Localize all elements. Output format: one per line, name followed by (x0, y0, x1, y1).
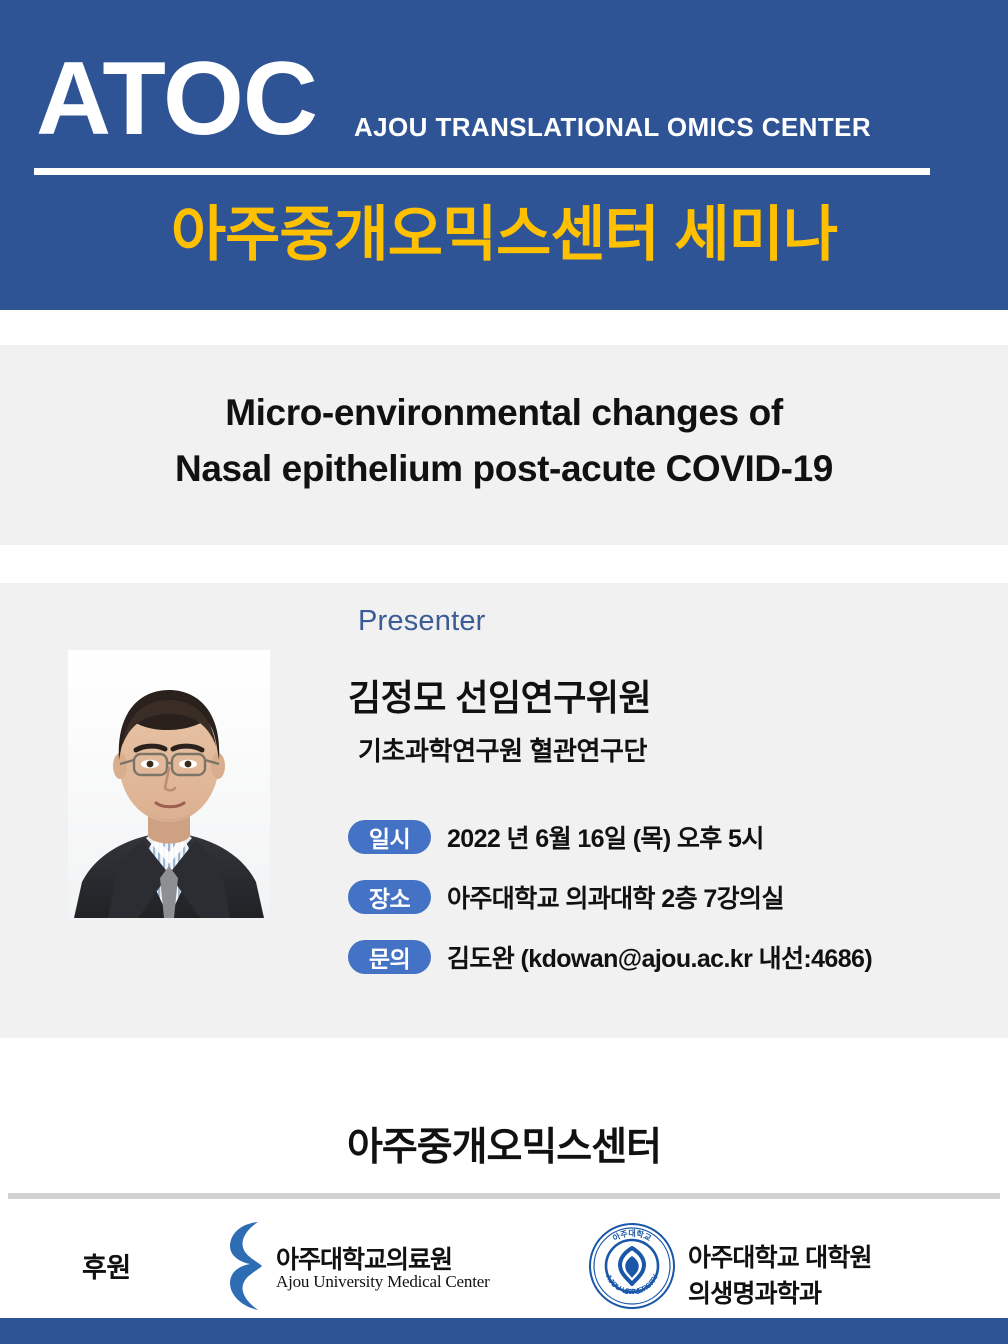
brand-full-name: AJOU TRANSLATIONAL OMICS CENTER (354, 112, 871, 142)
event-details-list: 일시 2022 년 6월 16일 (목) 오후 5시 장소 아주대학교 의과대학… (348, 814, 968, 994)
presenter-label: Presenter (358, 605, 486, 638)
bottom-band (0, 1318, 1008, 1344)
talk-title: Micro-environmental changes of Nasal epi… (0, 385, 1008, 497)
sponsor-ajou-graduate-school: 아주대학교 AJOU UNIVERSITY 1973 아주대학교 대학원 의생명… (588, 1218, 908, 1314)
presenter-photo (68, 650, 270, 918)
ajou-graduate-name-line-1: 아주대학교 대학원 (688, 1238, 872, 1274)
value-contact: 김도완 (kdowan@ajou.ac.kr 내선:4686) (447, 939, 872, 975)
badge-datetime: 일시 (348, 820, 431, 854)
ajou-medical-center-name-en: Ajou University Medical Center (276, 1272, 490, 1292)
ajou-medical-center-name-kr: 아주대학교의료원 (276, 1240, 452, 1276)
value-datetime: 2022 년 6월 16일 (목) 오후 5시 (447, 819, 764, 855)
event-detail-row-location: 장소 아주대학교 의과대학 2층 7강의실 (348, 874, 968, 920)
footer-divider (8, 1193, 1000, 1199)
talk-title-line-1: Micro-environmental changes of (0, 385, 1008, 441)
event-detail-row-datetime: 일시 2022 년 6월 16일 (목) 오후 5시 (348, 814, 968, 860)
sponsor-ajou-medical-center: 아주대학교의료원 Ajou University Medical Center (228, 1220, 493, 1312)
talk-title-panel: Micro-environmental changes of Nasal epi… (0, 345, 1008, 545)
value-location: 아주대학교 의과대학 2층 7강의실 (447, 879, 784, 915)
brand-row: ATOC AJOU TRANSLATIONAL OMICS CENTER (36, 44, 936, 164)
badge-location: 장소 (348, 880, 431, 914)
brand-divider-rule (34, 168, 930, 175)
ajou-university-seal-icon: 아주대학교 AJOU UNIVERSITY 1973 (588, 1222, 676, 1310)
presenter-name: 김정모 선임연구위원 (348, 669, 651, 721)
sponsor-area: 후원 아주대학교의료원 Ajou University Medical Cent… (0, 1208, 1008, 1318)
ajou-medical-center-logo-icon (228, 1220, 264, 1312)
header-band: ATOC AJOU TRANSLATIONAL OMICS CENTER 아주중… (0, 0, 1008, 310)
badge-contact: 문의 (348, 940, 431, 974)
brand-acronym: ATOC (36, 44, 317, 154)
ajou-graduate-name-line-2: 의생명과학과 (688, 1274, 821, 1310)
presenter-affiliation: 기초과학연구원 혈관연구단 (358, 731, 647, 768)
footer-center-name: 아주중개오믹스센터 (0, 1116, 1008, 1172)
event-detail-row-contact: 문의 김도완 (kdowan@ajou.ac.kr 내선:4686) (348, 934, 968, 980)
presenter-panel: Presenter 김정모 선임연구위원 기초과학연구원 혈관연구단 일시 20… (0, 583, 1008, 1038)
sponsor-label: 후원 (82, 1246, 131, 1285)
talk-title-line-2: Nasal epithelium post-acute COVID-19 (0, 441, 1008, 497)
seminar-title: 아주중개오믹스센터 세미나 (0, 196, 1008, 274)
seal-year: 1973 (624, 1289, 640, 1296)
